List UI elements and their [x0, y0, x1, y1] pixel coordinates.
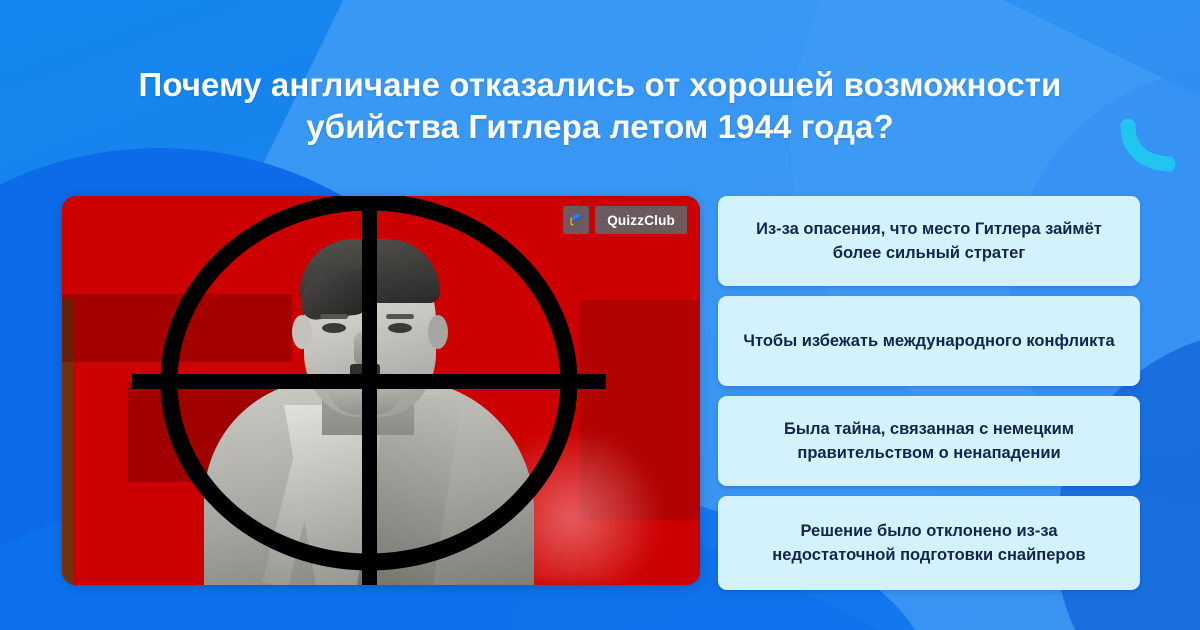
answer-options-list: Из-за опасения, что место Гитлера займёт…	[718, 196, 1140, 590]
answer-option-d[interactable]: Решение было отклонено из-за недостаточн…	[718, 496, 1140, 590]
graduation-cap-icon	[567, 211, 585, 229]
quiz-question-card: Почему англичане отказались от хорошей в…	[0, 0, 1200, 630]
answer-option-b[interactable]: Чтобы избежать международного конфликта	[718, 296, 1140, 386]
sniper-crosshair-icon	[62, 196, 700, 585]
brand-badge[interactable]: QuizzClub	[563, 206, 687, 234]
question-title-line-2: убийства Гитлера летом 1944 года?	[60, 106, 1140, 148]
answer-option-c[interactable]: Была тайна, связанная с немецким правите…	[718, 396, 1140, 486]
quizzclub-logo[interactable]	[563, 206, 589, 234]
question-image: QuizzClub	[62, 196, 700, 585]
answer-option-a[interactable]: Из-за опасения, что место Гитлера займёт…	[718, 196, 1140, 286]
quizzclub-wordmark: QuizzClub	[595, 206, 687, 234]
question-title: Почему англичане отказались от хорошей в…	[60, 64, 1140, 148]
question-title-line-1: Почему англичане отказались от хорошей в…	[60, 64, 1140, 106]
